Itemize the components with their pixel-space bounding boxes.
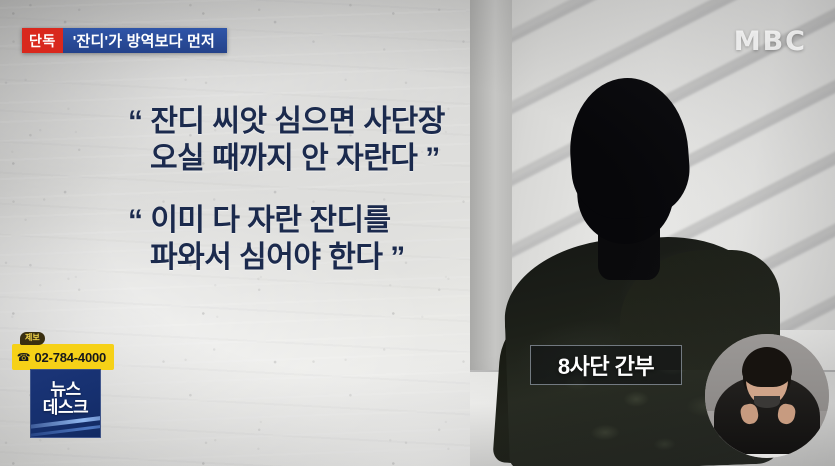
quote-1-line-1: “ 잔디 씨앗 심으면 사단장 [128,104,528,141]
tip-label: 제보 [20,332,45,345]
speaker-caption: 8사단 간부 [530,345,682,385]
newsdesk-logo-line-2: 데스크 [43,399,88,417]
quote-2-line-1: “ 이미 다 자란 잔디를 [128,203,528,240]
sign-language-interpreter [705,334,829,458]
interpreter-collar [754,396,780,408]
quote-1-line-2: 오실 때까지 안 자란다 ” [128,141,528,178]
quote-block-2: “ 이미 다 자란 잔디를 파와서 심어야 한다 ” [128,203,528,276]
headline-title: '잔디'가 방역보다 먼저 [63,28,227,53]
speaker-caption-text: 8사단 간부 [558,349,654,381]
quote-block-1: “ 잔디 씨앗 심으면 사단장 오실 때까지 안 자란다 ” [128,104,528,177]
newsdesk-logo: 뉴스 데스크 [30,369,101,438]
newsdesk-logo-line-1: 뉴스 [50,381,80,399]
headline-banner: 단독 '잔디'가 방역보다 먼저 [22,28,227,53]
broadcast-screen: MBC 단독 '잔디'가 방역보다 먼저 “ 잔디 씨앗 심으면 사단장 오실 … [0,0,835,466]
quote-2-line-2: 파와서 심어야 한다 ” [128,240,528,277]
quote-graphics: “ 잔디 씨앗 심으면 사단장 오실 때까지 안 자란다 ” “ 이미 다 자란… [128,104,528,302]
tip-hotline-box: 제보 ☎ 02-784-4000 [12,340,114,370]
phone-icon: ☎ [17,351,31,364]
tip-phone-number: 02-784-4000 [35,350,107,365]
exclusive-badge: 단독 [22,28,63,53]
mbc-logo: MBC [734,26,807,57]
tip-phone-row: ☎ 02-784-4000 [12,344,114,370]
